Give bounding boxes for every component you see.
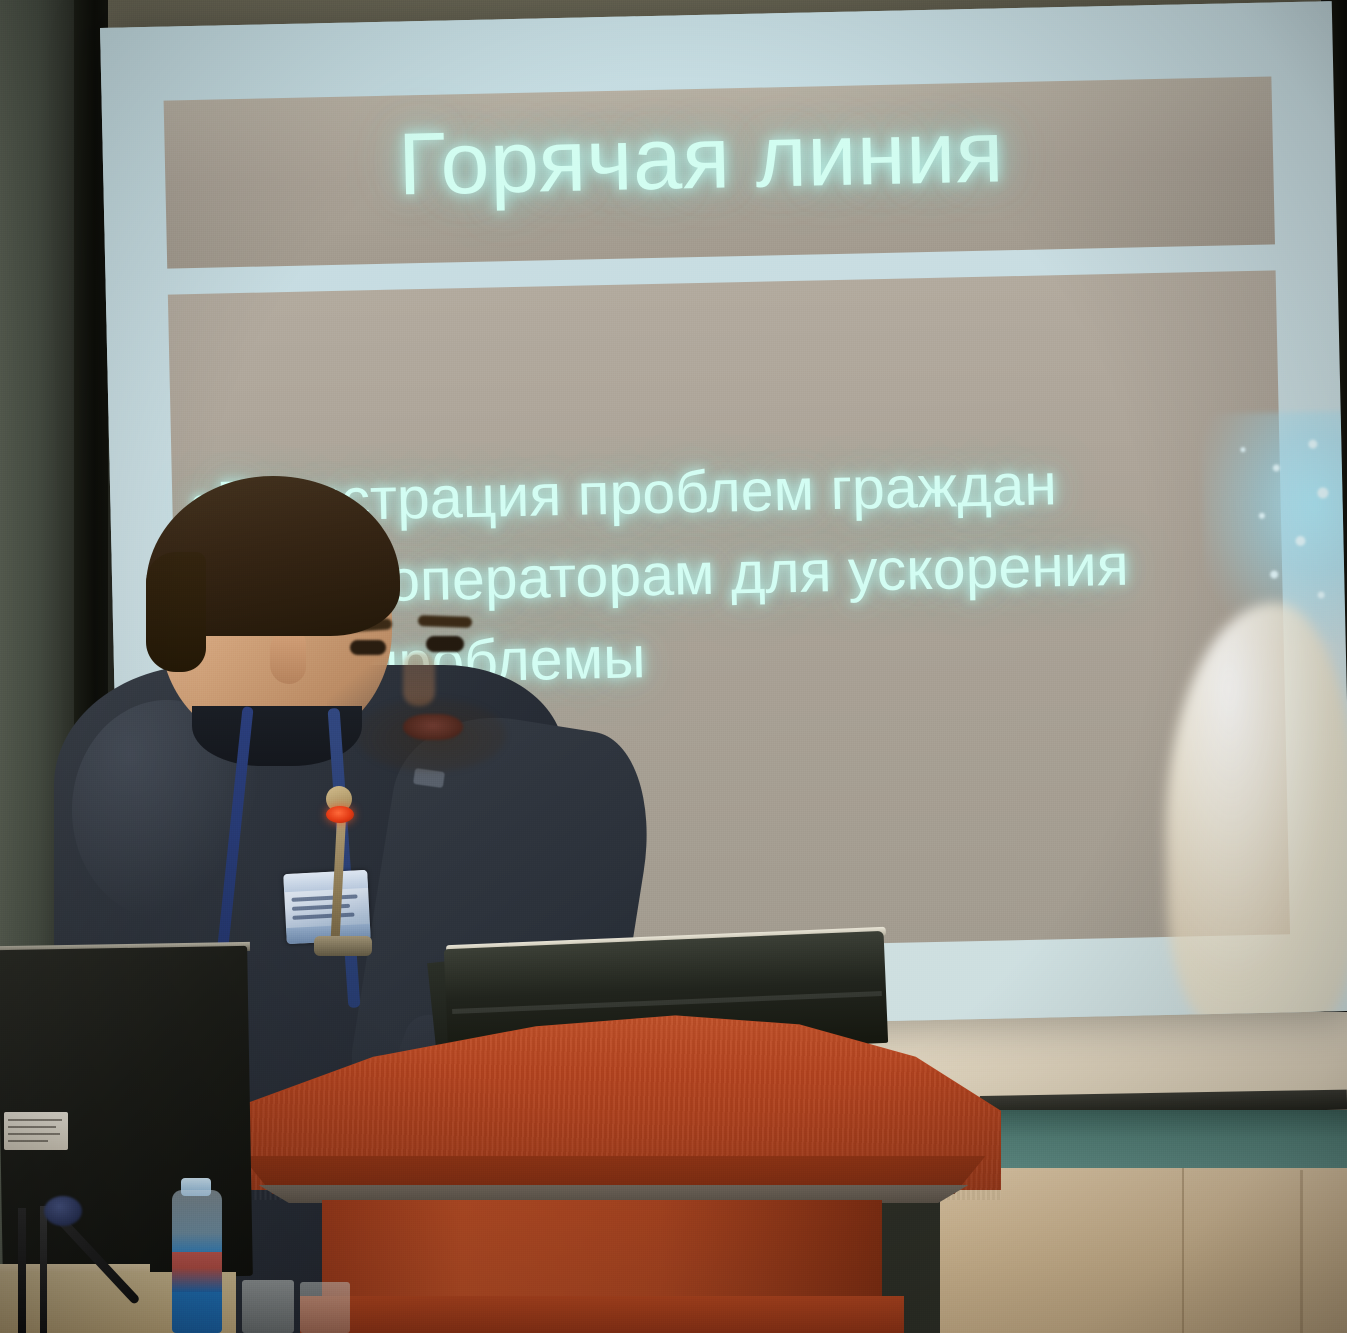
- slide-title: Горячая линия: [164, 95, 1238, 220]
- eye: [426, 636, 464, 652]
- monitor-label-sticker: [4, 1112, 68, 1150]
- sparkle-dot-icon: [1295, 536, 1305, 546]
- ear: [270, 630, 306, 684]
- sparkle-dot-icon: [1308, 440, 1317, 449]
- microphone-windscreen: [44, 1196, 82, 1226]
- mouth: [403, 714, 463, 740]
- badge-header: [283, 870, 368, 892]
- drinking-glass: [300, 1282, 350, 1333]
- microphone-stand: [40, 1206, 47, 1333]
- lectern-plinth: [300, 1296, 904, 1333]
- badge-text-line: [292, 913, 354, 920]
- badge-text-line: [291, 894, 357, 901]
- microphone-indicator-led: [326, 806, 354, 823]
- photo-scene: Горячая линия •Регистрация проблем гражд…: [0, 0, 1347, 1333]
- eyebrow: [418, 615, 472, 628]
- hair-side: [146, 552, 206, 672]
- sparkle-dot-icon: [1317, 487, 1328, 498]
- wall-panel-seam: [1300, 1170, 1303, 1333]
- sticker-text-line: [8, 1133, 60, 1135]
- slide-title-band: Горячая линия: [164, 76, 1275, 268]
- wall-panel-seam: [1182, 1168, 1184, 1333]
- eye: [350, 640, 386, 655]
- sparkle-dot-icon: [1318, 591, 1325, 598]
- sticker-text-line: [8, 1140, 48, 1142]
- bottle-label: [172, 1252, 222, 1292]
- sticker-text-line: [8, 1119, 62, 1121]
- drinking-glass: [242, 1280, 294, 1333]
- microphone-base: [314, 936, 372, 956]
- wall-panel-beige: [940, 1168, 1347, 1333]
- microphone-stand: [18, 1208, 26, 1333]
- name-badge: [283, 870, 371, 944]
- sticker-text-line: [8, 1126, 56, 1128]
